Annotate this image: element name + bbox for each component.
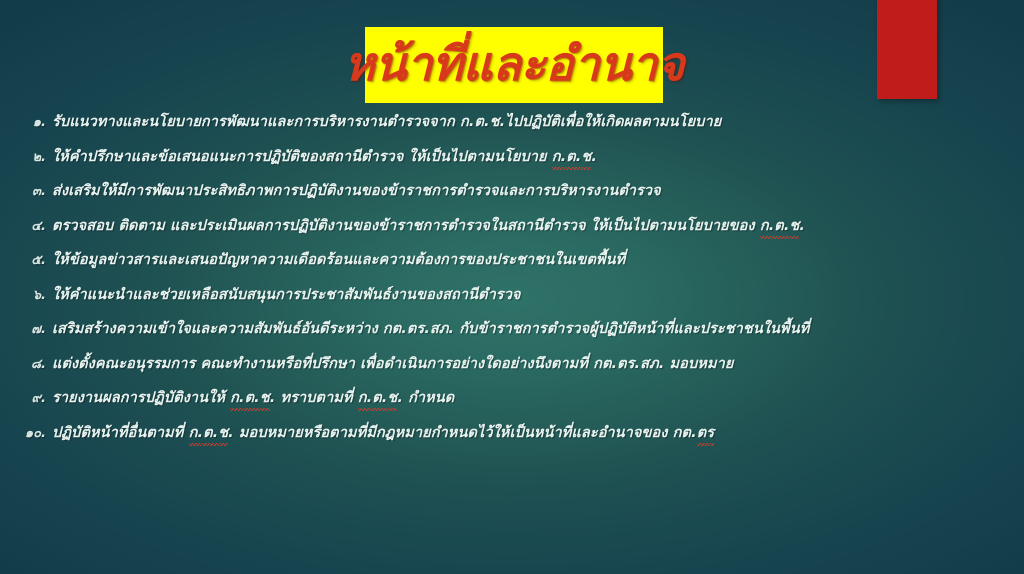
list-item-marker: ๘. [0, 353, 52, 374]
list-item-marker: ๑. [0, 111, 52, 132]
text-run: ให้ข้อมูลข่าวสารและเสนอปัญหาความเดือดร้อ… [52, 252, 625, 268]
list-item: ๔.ตรวจสอบ ติดตาม และประเมินผลการปฏิบัติง… [0, 214, 1024, 249]
list-item-text: ให้คำแนะนำและช่วยเหลือสนับสนุนการประชาสั… [52, 283, 521, 306]
text-run: ส่งเสริมให้มีการพัฒนาประสิทธิภาพการปฏิบั… [52, 183, 661, 199]
list-item-text: ให้คำปรึกษาและข้อเสนอแนะการปฏิบัติของสถา… [52, 145, 597, 168]
list-item: ๑.รับแนวทางและนโยบายการพัฒนาและการบริหาร… [0, 110, 1024, 145]
list-item: ๑๐.ปฏิบัติหน้าที่อื่นตามที่ ก.ต.ช. มอบหม… [0, 421, 1024, 456]
list-item-text: รับแนวทางและนโยบายการพัฒนาและการบริหารงา… [52, 110, 721, 133]
spellcheck-flagged-term: ตร [697, 421, 714, 444]
list-item-marker: ๖. [0, 284, 52, 305]
list-item: ๒.ให้คำปรึกษาและข้อเสนอแนะการปฏิบัติของส… [0, 145, 1024, 180]
spellcheck-flagged-term: ก.ต.ช [552, 145, 592, 168]
list-item-marker: ๔. [0, 215, 52, 236]
list-item-text: รายงานผลการปฏิบัติงานให้ ก.ต.ช. ทราบตามท… [52, 386, 454, 409]
text-run: แต่งตั้งคณะอนุรรมการ คณะทำงานหรือที่ปรึก… [52, 356, 733, 372]
list-item: ๖.ให้คำแนะนำและช่วยเหลือสนับสนุนการประชา… [0, 283, 1024, 318]
text-run: . ทราบตามที่ [270, 390, 358, 406]
list-item-text: ปฏิบัติหน้าที่อื่นตามที่ ก.ต.ช. มอบหมายห… [52, 421, 714, 444]
list-item-text: ให้ข้อมูลข่าวสารและเสนอปัญหาความเดือดร้อ… [52, 248, 625, 271]
list-item-marker: ๙. [0, 387, 52, 408]
list-item: ๕.ให้ข้อมูลข่าวสารและเสนอปัญหาความเดือดร… [0, 248, 1024, 283]
list-item: ๙.รายงานผลการปฏิบัติงานให้ ก.ต.ช. ทราบตา… [0, 386, 1024, 421]
list-item-marker: ๓. [0, 180, 52, 201]
spellcheck-flagged-term: ก.ต.ช [760, 214, 800, 237]
list-item-marker: ๑๐. [0, 422, 52, 443]
text-run: รายงานผลการปฏิบัติงานให้ [52, 390, 230, 406]
spellcheck-flagged-term: ก.ต.ช [358, 386, 398, 409]
list-item: ๘.แต่งตั้งคณะอนุรรมการ คณะทำงานหรือที่ปร… [0, 352, 1024, 387]
red-accent-rectangle [877, 0, 937, 99]
text-run: เสริมสร้างความเข้าใจและความสัมพันธ์อันดี… [52, 321, 809, 337]
text-run: ให้คำแนะนำและช่วยเหลือสนับสนุนการประชาสั… [52, 287, 521, 303]
list-item: ๗.เสริมสร้างความเข้าใจและความสัมพันธ์อัน… [0, 317, 1024, 352]
list-item-text: ตรวจสอบ ติดตาม และประเมินผลการปฏิบัติงาน… [52, 214, 805, 237]
text-run: ให้คำปรึกษาและข้อเสนอแนะการปฏิบัติของสถา… [52, 149, 552, 165]
list-item-text: ส่งเสริมให้มีการพัฒนาประสิทธิภาพการปฏิบั… [52, 179, 661, 202]
text-run: ปฏิบัติหน้าที่อื่นตามที่ [52, 425, 189, 441]
list-item-marker: ๕. [0, 249, 52, 270]
list-item-text: เสริมสร้างความเข้าใจและความสัมพันธ์อันดี… [52, 317, 809, 340]
spellcheck-flagged-term: ก.ต.ช [230, 386, 270, 409]
text-run: ตรวจสอบ ติดตาม และประเมินผลการปฏิบัติงาน… [52, 218, 760, 234]
title-banner: หน้าที่และอำนาจ [365, 27, 663, 103]
text-run: . [591, 149, 597, 165]
text-run: . กำหนด [397, 390, 454, 406]
slide-canvas: หน้าที่และอำนาจ ๑.รับแนวทางและนโยบายการพ… [0, 0, 1024, 574]
text-run: รับแนวทางและนโยบายการพัฒนาและการบริหารงา… [52, 114, 721, 130]
text-run: . [799, 218, 805, 234]
list-item-marker: ๗. [0, 318, 52, 339]
duties-and-powers-list: ๑.รับแนวทางและนโยบายการพัฒนาและการบริหาร… [0, 110, 1024, 455]
text-run: . มอบหมายหรือตามที่มีกฎหมายกำหนดไว้ให้เป… [228, 425, 697, 441]
page-title: หน้าที่และอำนาจ [344, 41, 684, 88]
list-item-marker: ๒. [0, 146, 52, 167]
spellcheck-flagged-term: ก.ต.ช [189, 421, 229, 444]
list-item-text: แต่งตั้งคณะอนุรรมการ คณะทำงานหรือที่ปรึก… [52, 352, 733, 375]
list-item: ๓.ส่งเสริมให้มีการพัฒนาประสิทธิภาพการปฏิ… [0, 179, 1024, 214]
